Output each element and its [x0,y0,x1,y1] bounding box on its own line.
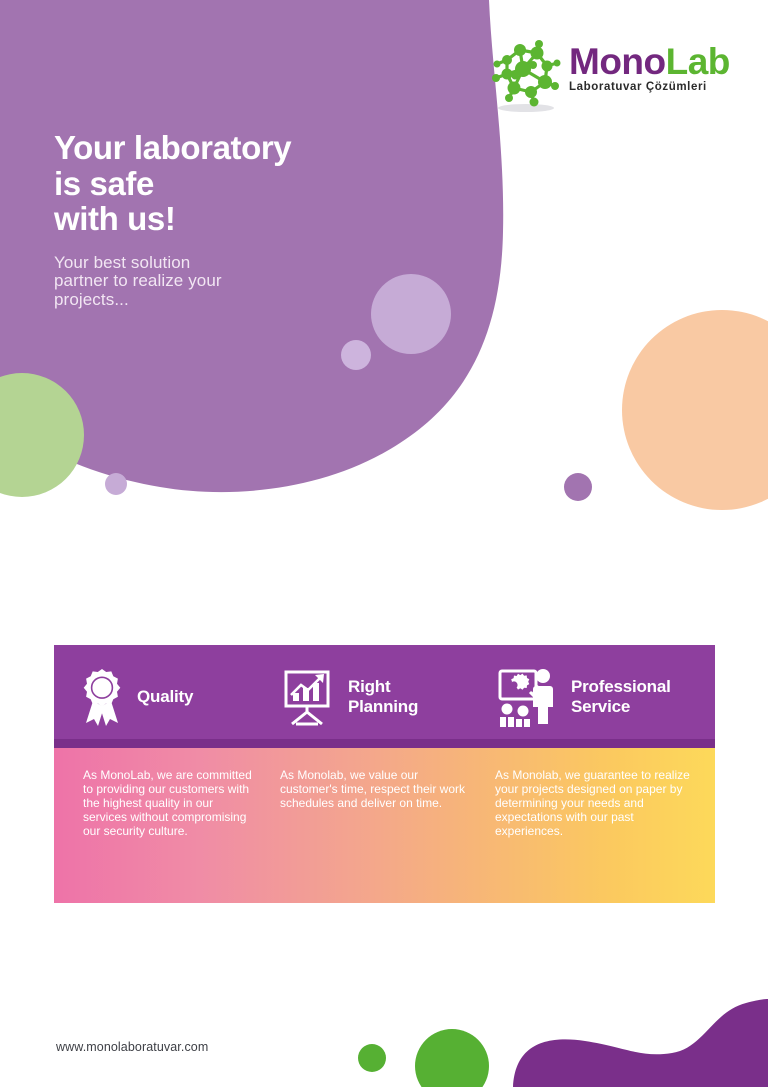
feature-body-professional-service: As Monolab, we guarantee to realize your… [482,748,715,903]
feature-band: Quality [54,645,715,903]
footer-website-url[interactable]: www.monolaboratuvar.com [56,1040,208,1054]
green-circle-left [0,373,84,497]
bottom-wave-shape [513,999,768,1087]
feature-band-header: Quality [54,645,715,748]
brand-logo[interactable]: MonoLab Laboratuvar Çözümleri [487,36,745,120]
hero-title: Your laboratory is safe with us! [54,130,454,237]
feature-label-right-planning: Right Planning [348,677,418,716]
green-circle-bottom [415,1029,489,1087]
hero-section: Your laboratory is safe with us! Your be… [54,130,454,309]
molecule-sphere-icon [487,36,565,114]
feature-label-quality: Quality [137,687,193,707]
purple-dot-right [564,473,592,501]
presentation-growth-chart-icon [282,668,336,726]
logo-word-lab: Lab [666,41,730,82]
award-ribbon-icon [79,667,125,727]
peach-circle-right [622,310,768,510]
lilac-circle-small [341,340,371,370]
feature-body-quality: As MonoLab, we are committed to providin… [54,748,272,903]
lilac-dot-lower-left [105,473,127,495]
feature-item-right-planning[interactable]: Right Planning [272,645,482,748]
feature-body-right-planning: As Monolab, we value our customer's time… [272,748,482,903]
feature-label-professional-service: Professional Service [571,677,671,716]
hero-subtitle: Your best solution partner to realize yo… [54,254,454,309]
logo-word-mono: Mono [569,41,666,82]
presenter-gear-board-icon [497,667,559,727]
green-dot-bottom-small [358,1044,386,1072]
poster-page: MonoLab Laboratuvar Çözümleri Your labor… [0,0,768,1087]
feature-item-professional-service[interactable]: Professional Service [482,645,715,748]
feature-band-body: As MonoLab, we are committed to providin… [54,748,715,903]
logo-tagline: Laboratuvar Çözümleri [569,81,730,93]
logo-wordmark: MonoLab Laboratuvar Çözümleri [569,36,730,93]
feature-item-quality[interactable]: Quality [54,645,272,748]
